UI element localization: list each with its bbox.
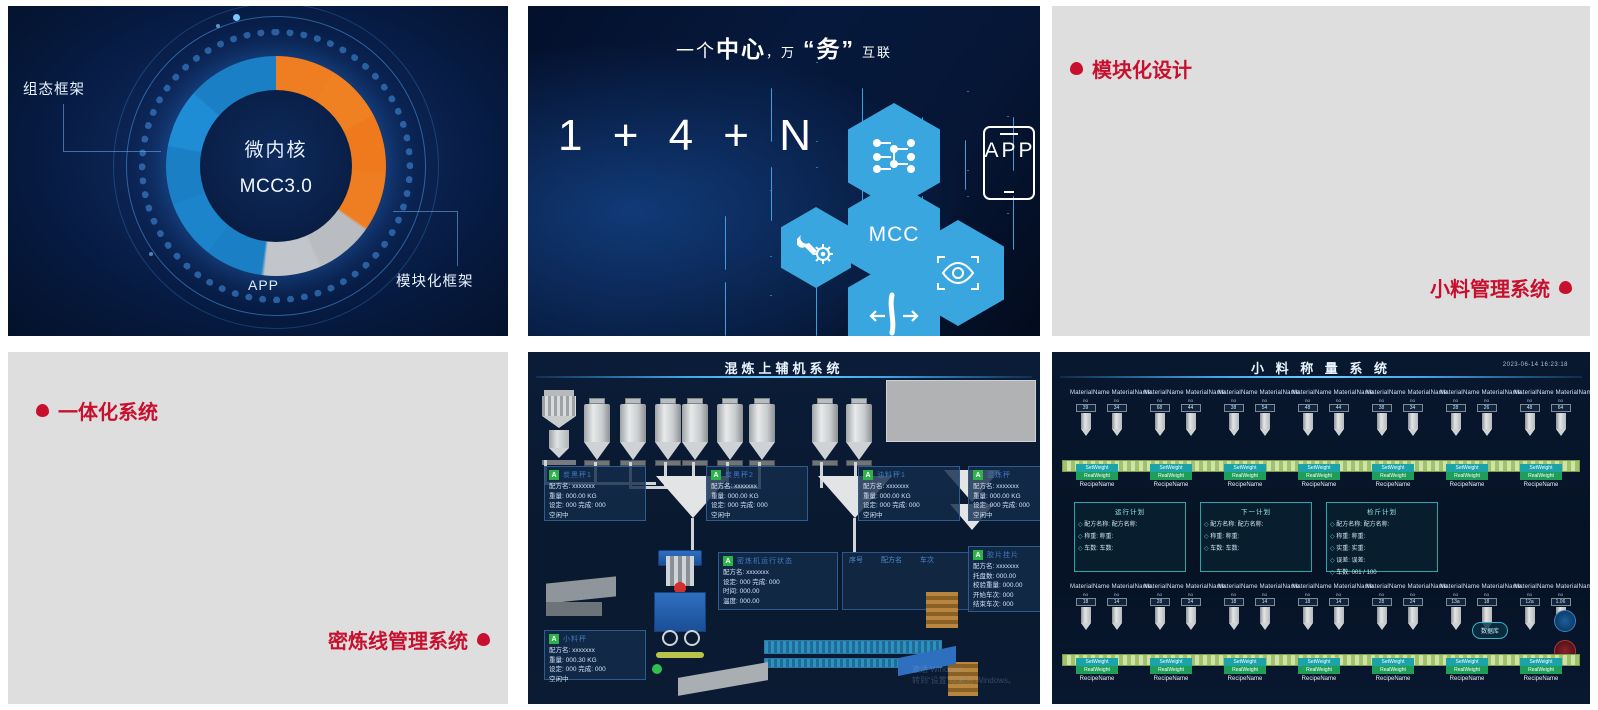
unit-value: 12a — [1520, 598, 1540, 606]
material-name-label: MaterialName — [1292, 390, 1332, 396]
unit-tag: no — [1148, 592, 1172, 597]
material-column: MaterialName MaterialName no48 no64 — [1514, 390, 1576, 436]
unit-tag: no — [1401, 398, 1425, 403]
mixing-line-management-text: 密炼线管理系统 — [328, 625, 468, 654]
pallet-row: 结束车次: 000 — [973, 600, 1040, 610]
recipe-name-label: RecipeName — [1372, 676, 1414, 682]
unit-tag: no — [1253, 592, 1277, 597]
unit-tag: no — [1074, 398, 1098, 403]
unit-tag: no — [1518, 398, 1542, 403]
material-name-label: MaterialName — [1366, 390, 1406, 396]
set-weight-label: SetWeight — [1224, 464, 1266, 472]
weight-badge[interactable]: SetWeight RealWeight RecipeName — [1150, 658, 1192, 682]
set-weight-label: SetWeight — [1372, 658, 1414, 666]
real-weight-label: RealWeight — [1298, 666, 1340, 674]
panel-architecture-donut: 微内核 MCC3.0 组态框架 模块化框架 APP — [8, 6, 508, 336]
status-badge: A — [549, 470, 559, 480]
mixer-name: 密炼机运行状态 — [737, 556, 793, 566]
unit-tag: no — [1401, 592, 1425, 597]
material-unit[interactable]: no28 — [1370, 592, 1394, 630]
real-weight-label: RealWeight — [1298, 472, 1340, 480]
plan-row: 车数: 001 / 100 — [1330, 567, 1434, 579]
roller — [684, 630, 700, 646]
unit-value: 54 — [1255, 404, 1275, 412]
kernel-label-en: MCC3.0 — [240, 176, 313, 198]
plan-row: 配方名称: 配方名称: — [1330, 519, 1434, 531]
set-weight-label: SetWeight — [1150, 658, 1192, 666]
mixer-row: 设定: 000 完成: 000 — [723, 578, 833, 588]
weight-badge[interactable]: SetWeight RealWeight RecipeName — [1372, 658, 1414, 682]
material-unit[interactable]: no39 — [1074, 398, 1098, 436]
material-column: MaterialName MaterialName no18 no14 — [1070, 584, 1132, 630]
leader-line-right — [393, 211, 458, 266]
unit-value: 28 — [1150, 598, 1170, 606]
panel-modular-design: 模块化设计 小料管理系统 — [1052, 6, 1590, 336]
weight-badge[interactable]: SetWeight RealWeight RecipeName — [1372, 464, 1414, 488]
station-row: 设定: 000 完成: 000 — [973, 501, 1040, 511]
th-recipe: 配方名 — [881, 555, 902, 565]
material-unit[interactable]: no14 — [1105, 592, 1129, 630]
silo — [682, 398, 708, 466]
gauge-icon[interactable] — [1554, 610, 1576, 632]
diamond-bullet-icon — [1070, 62, 1083, 75]
weight-badge[interactable]: SetWeight RealWeight RecipeName — [1520, 464, 1562, 488]
silo — [749, 398, 775, 466]
set-weight-label: SetWeight — [1076, 464, 1118, 472]
hex-label-mcc: MCC — [869, 223, 920, 247]
pipe — [853, 518, 856, 552]
material-unit[interactable]: no24 — [1401, 592, 1425, 630]
banbury-body — [654, 592, 706, 632]
donut-center: 微内核 MCC3.0 — [200, 90, 352, 242]
station-row: 配方名: xxxxxxx — [863, 482, 955, 492]
material-unit[interactable]: no12a — [1518, 592, 1542, 630]
material-column: MaterialName MaterialName no28 no26 — [1440, 390, 1502, 436]
unit-tag: no — [1475, 398, 1499, 403]
unit-value: 18 — [1298, 598, 1318, 606]
unit-value: 13a — [1446, 598, 1466, 606]
material-name-label: MaterialName — [1366, 584, 1406, 590]
recipe-name-label: RecipeName — [1150, 676, 1192, 682]
material-unit[interactable]: no18 — [1296, 592, 1320, 630]
unit-value: 28 — [1372, 598, 1392, 606]
table-header-row: 序号 配方名 车次 — [843, 553, 973, 567]
station-name: 小料秤 — [563, 634, 587, 644]
station-row: 空闲中 — [549, 675, 641, 685]
unit-tag: no — [1296, 592, 1320, 597]
label-modular-framework: 模块化框架 — [396, 270, 474, 291]
station-box-1[interactable]: A 炭黑秤1 配方名: xxxxxxx 重量: 000.00 KG 设定: 00… — [544, 466, 646, 521]
station-row: 设定: 000 完成: 000 — [549, 665, 641, 675]
real-weight-label: RealWeight — [1446, 666, 1488, 674]
real-weight-label: RealWeight — [1520, 666, 1562, 674]
status-badge: A — [711, 470, 721, 480]
leader-line-left-tail — [129, 151, 161, 152]
station-row: 设定: 000 完成: 000 — [863, 501, 955, 511]
plan-title: 下一计划 — [1204, 506, 1308, 516]
recipe-name-label: RecipeName — [1446, 676, 1488, 682]
modular-design-text: 模块化设计 — [1092, 54, 1192, 83]
stacked-product — [926, 592, 958, 628]
unit-tag: no — [1253, 398, 1277, 403]
title-part-6: 互联 — [862, 45, 892, 60]
weight-badge[interactable]: SetWeight RealWeight RecipeName — [1224, 658, 1266, 682]
set-weight-label: SetWeight — [1520, 658, 1562, 666]
display-screen-placeholder — [886, 380, 1036, 442]
real-weight-label: RealWeight — [1372, 666, 1414, 674]
plan-row: 称重: 称重: — [1204, 531, 1308, 543]
set-weight-label: SetWeight — [1520, 464, 1562, 472]
accent-dot — [149, 252, 153, 256]
unit-value: 26 — [1477, 404, 1497, 412]
panel-hmi-small-material: 小 料 称 量 系 统 2023-06-14 16:23:18 Material… — [1052, 352, 1590, 704]
station-box-2[interactable]: A 炭黑秤2 配方名: xxxxxxx 重量: 000.00 KG 设定: 00… — [706, 466, 808, 521]
station-name: 油料秤1 — [877, 470, 906, 480]
station-row: 重量: 000.00 KG — [711, 492, 803, 502]
station-row: 设定: 000 完成: 000 — [711, 501, 803, 511]
material-unit[interactable]: no38 — [1370, 398, 1394, 436]
plan-title: 运行计划 — [1078, 506, 1182, 516]
unit-value: 39 — [1076, 404, 1096, 412]
unit-value: 44 — [1329, 404, 1349, 412]
real-weight-label: RealWeight — [1446, 472, 1488, 480]
station-row: 重量: 000.00 KG — [549, 492, 641, 502]
hex-label-app: APP — [978, 139, 1040, 163]
material-unit[interactable]: no34 — [1401, 398, 1425, 436]
weight-badge[interactable]: SetWeight RealWeight RecipeName — [1298, 658, 1340, 682]
recipe-name-label: RecipeName — [1224, 676, 1266, 682]
plan-box-next[interactable]: 下一计划 配方名称: 配方名称: 称重: 称重: 车数: 车数: — [1200, 502, 1312, 572]
roller — [662, 630, 678, 646]
set-weight-label: SetWeight — [1446, 464, 1488, 472]
unit-value: 48 — [1520, 404, 1540, 412]
station-row: 配方名: xxxxxxx — [711, 482, 803, 492]
station-row: 重量: 000.30 KG — [549, 656, 641, 666]
unit-tag: no — [1327, 592, 1351, 597]
title-part-4: 万 — [781, 45, 796, 60]
material-name-label: MaterialName — [1292, 584, 1332, 590]
station-row: 重量: 000.00 KG — [863, 492, 955, 502]
label-integrated-system: 一体化系统 — [36, 396, 158, 425]
th-index: 序号 — [849, 555, 863, 565]
wrench-gear-icon — [797, 231, 835, 265]
unit-tag: no — [1222, 398, 1246, 403]
material-name-label: MaterialName — [1070, 584, 1110, 590]
material-unit[interactable]: no18 — [1074, 592, 1098, 630]
pallet-row: 托盘数: 000.00 — [973, 572, 1040, 582]
set-weight-label: SetWeight — [1076, 658, 1118, 666]
plan-row: 误差: 误差: — [1330, 555, 1434, 567]
material-column: MaterialName MaterialName no38 no34 — [1366, 390, 1428, 436]
unit-tag: no — [1105, 398, 1129, 403]
status-badge: A — [549, 634, 559, 644]
pipe — [691, 518, 694, 552]
plan-row: 车数: 车数: — [1078, 543, 1182, 555]
material-column: MaterialName MaterialName no28 no24 — [1144, 584, 1206, 630]
set-weight-label: SetWeight — [1446, 658, 1488, 666]
unit-tag: no — [1444, 398, 1468, 403]
material-unit[interactable]: no26 — [1475, 398, 1499, 436]
material-name-label: MaterialName — [1440, 390, 1480, 396]
material-column: MaterialName MaterialName no38 no54 — [1218, 390, 1280, 436]
small-material-management-text: 小料管理系统 — [1430, 273, 1550, 302]
material-name-label: MaterialName — [1556, 390, 1590, 396]
silo — [620, 398, 646, 466]
unit-value: 64 — [1551, 404, 1571, 412]
real-weight-label: RealWeight — [1076, 472, 1118, 480]
panel-integrated-system: 一体化系统 密炼线管理系统 — [8, 352, 508, 704]
recipe-name-label: RecipeName — [1076, 482, 1118, 488]
material-unit[interactable]: no44 — [1179, 398, 1203, 436]
material-name-label: MaterialName — [1070, 390, 1110, 396]
material-unit[interactable]: no24 — [1179, 592, 1203, 630]
station-row: 设定: 000 完成: 000 — [549, 501, 641, 511]
material-unit[interactable]: no13a — [1444, 592, 1468, 630]
unit-value: 1.06 — [1551, 598, 1571, 606]
recipe-name-label: RecipeName — [1520, 482, 1562, 488]
plan-row: 配方名称: 配方名称: — [1078, 519, 1182, 531]
material-unit[interactable]: no34 — [1105, 398, 1129, 436]
weight-badge[interactable]: SetWeight RealWeight RecipeName — [1150, 464, 1192, 488]
database-button[interactable]: 数据库 — [1472, 622, 1508, 639]
material-column: MaterialName MaterialName no18 no14 — [1218, 584, 1280, 630]
feed-conveyor-base — [546, 602, 602, 616]
station-row: 空闲中 — [711, 511, 803, 521]
accent-dot — [233, 14, 240, 21]
mixer-row: 温度: 000.00 — [723, 597, 833, 607]
unit-value: 68 — [1150, 404, 1170, 412]
watermark-line-2: 转到“设置”以激活 Windows。 — [912, 675, 1016, 686]
silo — [846, 398, 872, 466]
accent-dot — [216, 24, 220, 28]
unit-tag: no — [1296, 398, 1320, 403]
silo — [584, 398, 610, 466]
th-batch: 车次 — [920, 555, 934, 565]
real-weight-label: RealWeight — [1372, 472, 1414, 480]
silo — [812, 398, 838, 466]
unit-tag: no — [1327, 398, 1351, 403]
material-name-label: MaterialName — [1144, 390, 1184, 396]
material-name-label: MaterialName — [1144, 584, 1184, 590]
weight-badge[interactable]: SetWeight RealWeight RecipeName — [1520, 658, 1562, 682]
pallet-row: 校验重量: 000.00 — [973, 581, 1040, 591]
unit-value: 38 — [1372, 404, 1392, 412]
station-row: 空闲中 — [863, 511, 955, 521]
material-unit[interactable]: no28 — [1444, 398, 1468, 436]
label-configuration-framework: 组态框架 — [23, 78, 85, 99]
material-name-label: MaterialName — [1440, 584, 1480, 590]
mixer-row: 配方名: xxxxxxx — [723, 568, 833, 578]
kernel-label-cn: 微内核 — [244, 135, 307, 162]
material-name-label: MaterialName — [1514, 584, 1554, 590]
material-column: MaterialName MaterialName no28 no24 — [1366, 584, 1428, 630]
architecture-donut-chart: 微内核 MCC3.0 — [166, 56, 386, 276]
plan-box-running[interactable]: 运行计划 配方名称: 配方名称: 称重: 称重: 车数: 车数: — [1074, 502, 1186, 572]
plan-box-check[interactable]: 检斤计划 配方名称: 配方名称: 称重: 称重: 实重: 实重: 误差: 误差:… — [1326, 502, 1438, 572]
unit-value: 38 — [1224, 404, 1244, 412]
pallet-row: 配方名: xxxxxxx — [973, 562, 1040, 572]
integrated-system-text: 一体化系统 — [58, 396, 158, 425]
mixer-row: 时间: 000.00 — [723, 587, 833, 597]
plan-row: 实重: 实重: — [1330, 543, 1434, 555]
hmi-title-mixing: 混炼上辅机系统 — [536, 358, 1032, 377]
station-row: 配方名: xxxxxxx — [549, 646, 641, 656]
indicator-green — [652, 664, 662, 674]
weight-badge[interactable]: SetWeight RealWeight RecipeName — [1076, 658, 1118, 682]
pallet-status-box[interactable]: A 胶片挂片 配方名: xxxxxxx 托盘数: 000.00 校验重量: 00… — [968, 546, 1040, 612]
material-unit[interactable]: no38 — [1222, 398, 1246, 436]
plan-row: 配方名称: 配方名称: — [1204, 519, 1308, 531]
station-row: 空闲中 — [973, 511, 1040, 521]
material-unit[interactable]: no44 — [1327, 398, 1351, 436]
cooling-conveyor — [764, 640, 942, 654]
windows-activation-watermark: 激活 Windows 转到“设置”以激活 Windows。 — [912, 664, 1016, 686]
pallet-row: 开始车次: 000 — [973, 591, 1040, 601]
recipe-name-label: RecipeName — [1520, 676, 1562, 682]
unit-value: 28 — [1446, 404, 1466, 412]
station-row: 空闲中 — [549, 511, 641, 521]
material-column: MaterialName MaterialName no18 no14 — [1292, 584, 1354, 630]
status-badge: A — [973, 550, 983, 560]
panel-hmi-mixing-system: 混炼上辅机系统 — [528, 352, 1040, 704]
unit-value: 34 — [1403, 404, 1423, 412]
unit-tag: no — [1549, 592, 1573, 597]
weight-badge[interactable]: SetWeight RealWeight RecipeName — [1076, 464, 1118, 488]
bidirectional-arrow-icon — [869, 292, 919, 336]
weigh-hopper-assembly — [542, 390, 576, 465]
station-box-5[interactable]: A 小料秤 配方名: xxxxxxx 重量: 000.30 KG 设定: 000… — [544, 630, 646, 680]
set-weight-label: SetWeight — [1150, 464, 1192, 472]
material-unit[interactable]: no64 — [1549, 398, 1573, 436]
unit-value: 14 — [1255, 598, 1275, 606]
real-weight-label: RealWeight — [1150, 666, 1192, 674]
silo — [655, 398, 681, 466]
title-part-1: 一个 — [676, 41, 716, 61]
material-name-label: MaterialName — [1218, 390, 1258, 396]
unit-value: 48 — [1298, 404, 1318, 412]
status-badge: A — [863, 470, 873, 480]
unit-tag: no — [1222, 592, 1246, 597]
diamond-bullet-icon — [1559, 281, 1572, 294]
status-badge: A — [973, 470, 983, 480]
unit-value: 24 — [1403, 598, 1423, 606]
unit-tag: no — [1105, 592, 1129, 597]
app-phone-icon — [983, 126, 1035, 200]
recipe-name-label: RecipeName — [1372, 482, 1414, 488]
recipe-name-label: RecipeName — [1224, 482, 1266, 488]
watermark-line-1: 激活 Windows — [912, 664, 1016, 675]
unit-tag: no — [1475, 592, 1499, 597]
eye-scan-icon — [934, 253, 982, 293]
material-unit[interactable]: no48 — [1518, 398, 1542, 436]
recipe-name-label: RecipeName — [1298, 482, 1340, 488]
station-name: 炭黑秤1 — [563, 470, 592, 480]
station-name: 炭黑秤2 — [725, 470, 754, 480]
diamond-bullet-icon — [477, 633, 490, 646]
diamond-bullet-icon — [36, 404, 49, 417]
hexagon-panel-title: 一个中心，万 “务” 互联 — [528, 30, 1040, 64]
recipe-name-label: RecipeName — [1150, 482, 1192, 488]
unit-tag: no — [1074, 592, 1098, 597]
material-unit[interactable]: no54 — [1253, 398, 1277, 436]
mixer-status-box[interactable]: A 密炼机运行状态 配方名: xxxxxxx 设定: 000 完成: 000 时… — [718, 552, 838, 610]
unit-value: 14 — [1329, 598, 1349, 606]
title-part-5: “务” — [803, 36, 855, 62]
unit-value: 18 — [1477, 598, 1497, 606]
station-row: 配方名: xxxxxxx — [973, 482, 1040, 492]
station-box-3[interactable]: A 油料秤1 配方名: xxxxxxx 重量: 000.00 KG 设定: 00… — [858, 466, 960, 521]
material-unit[interactable]: no18 — [1222, 592, 1246, 630]
unit-value: 24 — [1181, 598, 1201, 606]
real-weight-label: RealWeight — [1150, 472, 1192, 480]
unit-value: 18 — [1224, 598, 1244, 606]
real-weight-label: RealWeight — [1224, 472, 1266, 480]
material-unit[interactable]: no14 — [1327, 592, 1351, 630]
station-box-4[interactable]: A 混炼秤 配方名: xxxxxxx 重量: 000.00 KG 设定: 000… — [968, 466, 1040, 521]
unit-tag: no — [1179, 592, 1203, 597]
material-column: MaterialName MaterialName no68 no44 — [1144, 390, 1206, 436]
title-part-3: ， — [766, 45, 781, 60]
unit-tag: no — [1518, 592, 1542, 597]
plan-title: 检斤计划 — [1330, 506, 1434, 516]
real-weight-label: RealWeight — [1224, 666, 1266, 674]
real-weight-label: RealWeight — [1520, 472, 1562, 480]
real-weight-label: RealWeight — [1076, 666, 1118, 674]
weight-badge[interactable]: SetWeight RealWeight RecipeName — [1446, 658, 1488, 682]
material-column: MaterialName MaterialName no39 no34 — [1070, 390, 1132, 436]
material-unit[interactable]: no48 — [1296, 398, 1320, 436]
unit-value: 14 — [1107, 598, 1127, 606]
weight-badge[interactable]: SetWeight RealWeight RecipeName — [1446, 464, 1488, 488]
unit-tag: no — [1549, 398, 1573, 403]
plan-row: 车数: 车数: — [1204, 543, 1308, 555]
set-weight-label: SetWeight — [1298, 464, 1340, 472]
recipe-name-label: RecipeName — [1298, 676, 1340, 682]
recipe-name-label: RecipeName — [1446, 482, 1488, 488]
unit-tag: no — [1370, 398, 1394, 403]
material-name-label: MaterialName — [1218, 584, 1258, 590]
set-weight-label: SetWeight — [1372, 464, 1414, 472]
station-row: 配方名: xxxxxxx — [549, 482, 641, 492]
label-modular-design: 模块化设计 — [1070, 54, 1192, 83]
plan-row: 称重: 称重: — [1078, 531, 1182, 543]
material-name-label: MaterialName — [1514, 390, 1554, 396]
material-column: MaterialName MaterialName no48 no44 — [1292, 390, 1354, 436]
material-unit[interactable]: no68 — [1148, 398, 1172, 436]
label-app: APP — [248, 277, 279, 293]
status-badge: A — [723, 556, 733, 566]
leader-line-left — [63, 104, 129, 152]
roller-bar — [656, 652, 704, 658]
unit-tag: no — [1148, 398, 1172, 403]
material-unit[interactable]: no14 — [1253, 592, 1277, 630]
panel-hexagon-diagram: 一个中心，万 “务” 互联 1 + 4 + N MCC — [528, 6, 1040, 336]
unit-value: 18 — [1076, 598, 1096, 606]
label-mixing-line-management: 密炼线管理系统 — [328, 625, 490, 654]
set-weight-label: SetWeight — [1224, 658, 1266, 666]
hmi-timestamp: 2023-06-14 16:23:18 — [1503, 362, 1568, 368]
label-small-material-management: 小料管理系统 — [1430, 273, 1572, 302]
material-unit[interactable]: no28 — [1148, 592, 1172, 630]
pallet-name: 胶片挂片 — [987, 550, 1019, 560]
unit-tag: no — [1444, 592, 1468, 597]
title-part-2: 中心 — [716, 36, 766, 62]
plan-row: 称重: 称重: — [1330, 531, 1434, 543]
weight-badge[interactable]: SetWeight RealWeight RecipeName — [1224, 464, 1266, 488]
weight-badge[interactable]: SetWeight RealWeight RecipeName — [1298, 464, 1340, 488]
silo — [717, 398, 743, 466]
station-name: 混炼秤 — [987, 470, 1011, 480]
